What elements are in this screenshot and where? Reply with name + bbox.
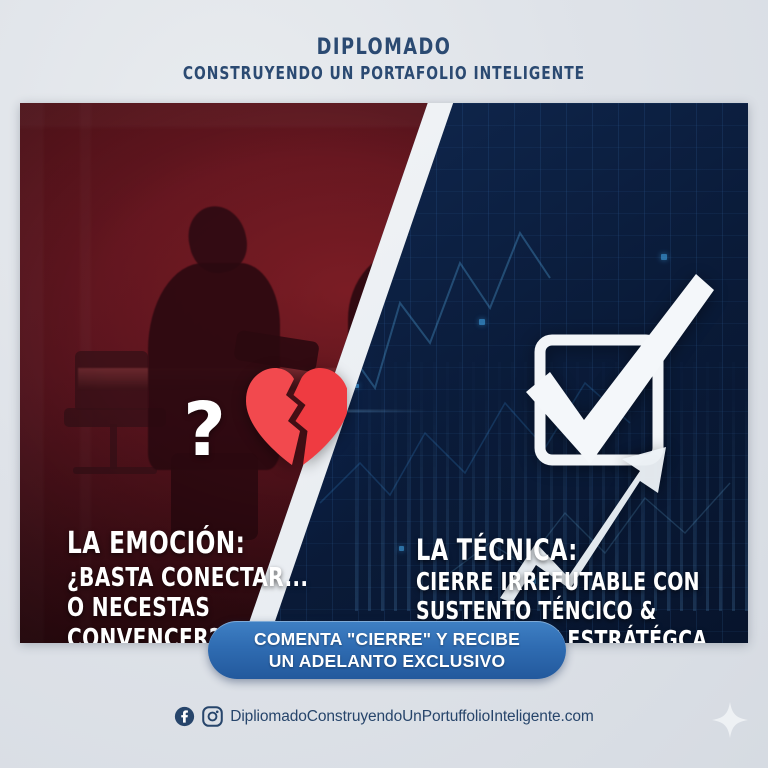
cta-line1: COMENTA "CIERRE" Y RECIBE bbox=[254, 629, 520, 649]
right-panel-title: LA TÉCNICA: bbox=[416, 535, 734, 565]
split-panel: ? LA EMOCIÓN: ¿BASTA CONECTAR... O NECES… bbox=[20, 103, 748, 643]
cta-label: COMENTA "CIERRE" Y RECIBE UN ADELANTO EX… bbox=[254, 628, 520, 672]
page-subtitle: CONSTRUYENDO UN PORTAFOLIO INTELIGENTE bbox=[46, 64, 722, 84]
facebook-icon[interactable] bbox=[174, 706, 195, 727]
broken-heart-icon bbox=[242, 365, 347, 465]
cta-line2: UN ADELANTO EXCLUSIVO bbox=[269, 651, 506, 671]
left-panel-line1: ¿BASTA CONECTAR... bbox=[67, 563, 351, 593]
instagram-icon[interactable] bbox=[202, 706, 223, 727]
comment-cta-button[interactable]: COMENTA "CIERRE" Y RECIBE UN ADELANTO EX… bbox=[208, 621, 566, 679]
sparkle-icon bbox=[710, 700, 750, 740]
left-panel-title: LA EMOCIÓN: bbox=[67, 528, 351, 559]
page-title: DIPLOMADO bbox=[38, 36, 729, 59]
website-handle[interactable]: DipliomadoConstruyendoUnPortuffolioIntel… bbox=[230, 708, 593, 726]
right-panel-line1: CIERRE IRREFUTABLE CON bbox=[416, 568, 734, 597]
question-mark-icon: ? bbox=[183, 393, 226, 467]
header: DIPLOMADO CONSTRUYENDO UN PORTAFOLIO INT… bbox=[0, 36, 768, 84]
footer: DipliomadoConstruyendoUnPortuffolioIntel… bbox=[0, 706, 768, 727]
left-panel-line2: O NECESTAS bbox=[67, 593, 351, 623]
